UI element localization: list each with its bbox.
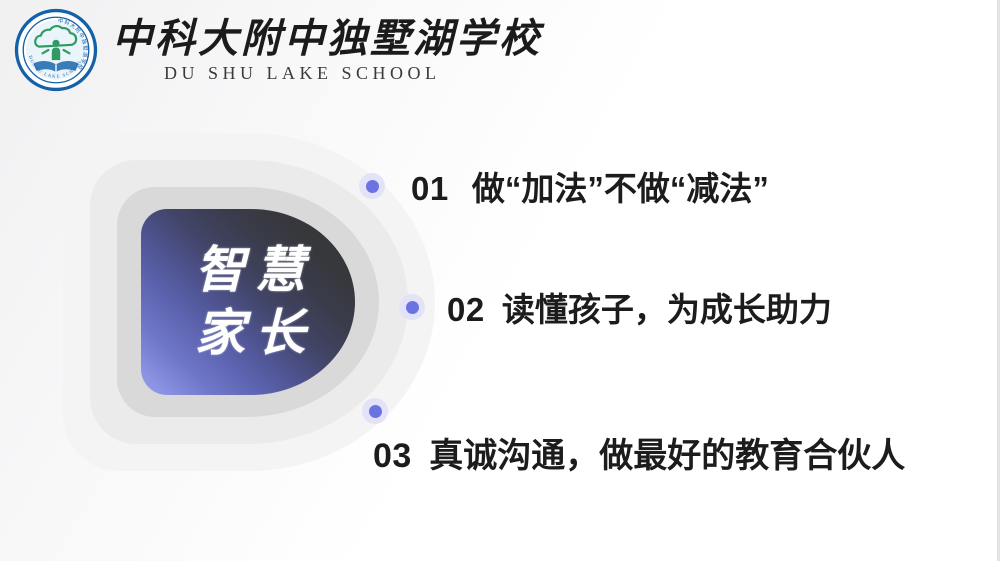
hero-gradient-panel: 智慧 家长: [141, 209, 355, 395]
hero-title-line-1: 智慧: [185, 240, 315, 301]
school-name-cn: 中科大附中独墅湖学校: [112, 17, 542, 60]
slide: 中科大附中独墅湖学校 DUSHU LAKE SCHOOL 中科大附中独墅湖学校 …: [0, 0, 1000, 561]
agenda-item-03-text: 03 真诚沟通，做最好的教育合伙人: [373, 428, 905, 477]
hero-title-line-2: 家长: [185, 303, 315, 364]
school-emblem-icon: 中科大附中独墅湖学校 DUSHU LAKE SCHOOL: [14, 8, 98, 92]
school-brand-header: 中科大附中独墅湖学校 DUSHU LAKE SCHOOL 中科大附中独墅湖学校 …: [14, 8, 542, 92]
school-name-block: 中科大附中独墅湖学校 DU SHU LAKE SCHOOL: [112, 15, 542, 85]
bullet-dot-icon: [362, 398, 388, 424]
agenda-item-01-text: 01 做“加法”不做“减法”: [411, 162, 769, 210]
hero-title: 智慧 家长: [141, 209, 355, 395]
agenda-item-03[interactable]: 03 真诚沟通，做最好的教育合伙人: [362, 398, 388, 424]
agenda-item-02-label: 读懂孩子，为成长助力: [502, 291, 832, 328]
agenda-item-03-label: 真诚沟通，做最好的教育合伙人: [429, 437, 905, 475]
agenda-item-02-number: 02: [447, 291, 485, 328]
agenda-item-01[interactable]: 01 做“加法”不做“减法”: [359, 162, 769, 210]
bullet-dot-icon: [359, 173, 385, 199]
agenda-item-02-text: 02 读懂孩子，为成长助力: [447, 283, 832, 331]
bullet-dot-icon: [399, 294, 425, 320]
school-name-en: DU SHU LAKE SCHOOL: [112, 63, 542, 85]
agenda-item-01-number: 01: [411, 170, 449, 207]
agenda-item-01-label: 做“加法”不做“减法”: [472, 170, 769, 207]
agenda-item-02[interactable]: 02 读懂孩子，为成长助力: [399, 283, 832, 331]
agenda-item-03-number: 03: [373, 437, 412, 475]
